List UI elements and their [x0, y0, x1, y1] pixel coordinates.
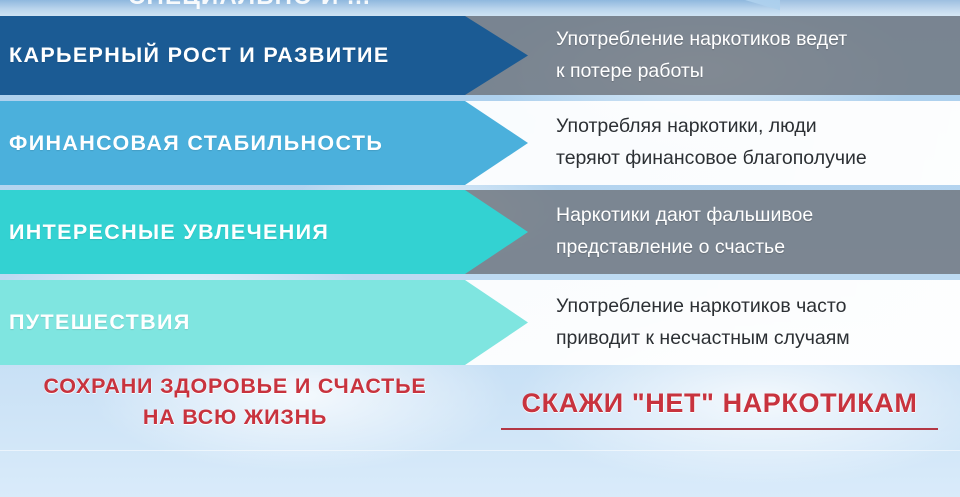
arrow-banner-3: ИНТЕРЕСНЫЕ УВЛЕЧЕНИЯ — [0, 190, 528, 274]
slogan-left-line-2: НА ВСЮ ЖИЗНЬ — [143, 405, 327, 429]
consequence-text-2: Употребляя наркотики, люди теряют финанс… — [556, 101, 960, 185]
arrow-banner-2: ФИНАНСОВАЯ СТАБИЛЬНОСТЬ — [0, 101, 528, 185]
arrow-banner-1-label: КАРЬЕРНЫЙ РОСТ И РАЗВИТИЕ — [0, 43, 390, 68]
consequence-text-2-line-2: теряют финансовое благополучие — [556, 143, 960, 175]
poster-canvas: СПЕЦИАЛЬНО И ... КАРЬЕРНЫЙ РОСТ И РАЗВИТ… — [0, 0, 960, 497]
heading-strip-shape-left — [0, 0, 800, 16]
consequence-text-3: Наркотики дают фальшивое представление о… — [556, 190, 960, 274]
footer-slogans: СОХРАНИ ЗДОРОВЬЕ И СЧАСТЬЕ НА ВСЮ ЖИЗНЬ … — [0, 365, 960, 497]
consequence-text-4-line-2: приводит к несчастным случаям — [556, 323, 960, 355]
slogan-right-underline — [501, 428, 938, 430]
arrow-banner-1: КАРЬЕРНЫЙ РОСТ И РАЗВИТИЕ — [0, 16, 528, 95]
footer-divider — [0, 450, 960, 451]
arrow-banner-3-label: ИНТЕРЕСНЫЕ УВЛЕЧЕНИЯ — [0, 220, 329, 245]
arrow-banner-4: ПУТЕШЕСТВИЯ — [0, 280, 528, 365]
benefit-row-4: ПУТЕШЕСТВИЯ Употребление наркотиков част… — [0, 280, 960, 365]
consequence-text-4: Употребление наркотиков часто приводит к… — [556, 280, 960, 365]
consequence-text-3-line-2: представление о счастье — [556, 232, 960, 264]
benefit-row-2: ФИНАНСОВАЯ СТАБИЛЬНОСТЬ Употребляя нарко… — [0, 101, 960, 185]
slogan-right-text: СКАЖИ "НЕТ" НАРКОТИКАМ — [492, 388, 947, 419]
slogan-left: СОХРАНИ ЗДОРОВЬЕ И СЧАСТЬЕ НА ВСЮ ЖИЗНЬ — [0, 371, 470, 433]
consequence-text-4-line-1: Употребление наркотиков часто — [556, 291, 960, 323]
consequence-text-1-line-1: Употребление наркотиков ведет — [556, 24, 960, 56]
benefit-row-1: КАРЬЕРНЫЙ РОСТ И РАЗВИТИЕ Употребление н… — [0, 16, 960, 95]
consequence-text-1: Употребление наркотиков ведет к потере р… — [556, 16, 960, 95]
arrow-banner-2-label: ФИНАНСОВАЯ СТАБИЛЬНОСТЬ — [0, 131, 383, 156]
benefit-row-3: ИНТЕРЕСНЫЕ УВЛЕЧЕНИЯ Наркотики дают фаль… — [0, 190, 960, 274]
arrow-banner-4-label: ПУТЕШЕСТВИЯ — [0, 310, 191, 335]
heading-strip-shape-right — [780, 0, 960, 16]
consequence-text-2-line-1: Употребляя наркотики, люди — [556, 111, 960, 143]
consequence-text-3-line-1: Наркотики дают фальшивое — [556, 200, 960, 232]
clipped-heading-text: СПЕЦИАЛЬНО И ... — [128, 0, 371, 11]
consequence-text-1-line-2: к потере работы — [556, 56, 960, 88]
clipped-heading-strip: СПЕЦИАЛЬНО И ... — [0, 0, 960, 16]
slogan-left-line-1: СОХРАНИ ЗДОРОВЬЕ И СЧАСТЬЕ — [44, 374, 427, 398]
slogan-right: СКАЖИ "НЕТ" НАРКОТИКАМ — [492, 388, 947, 430]
